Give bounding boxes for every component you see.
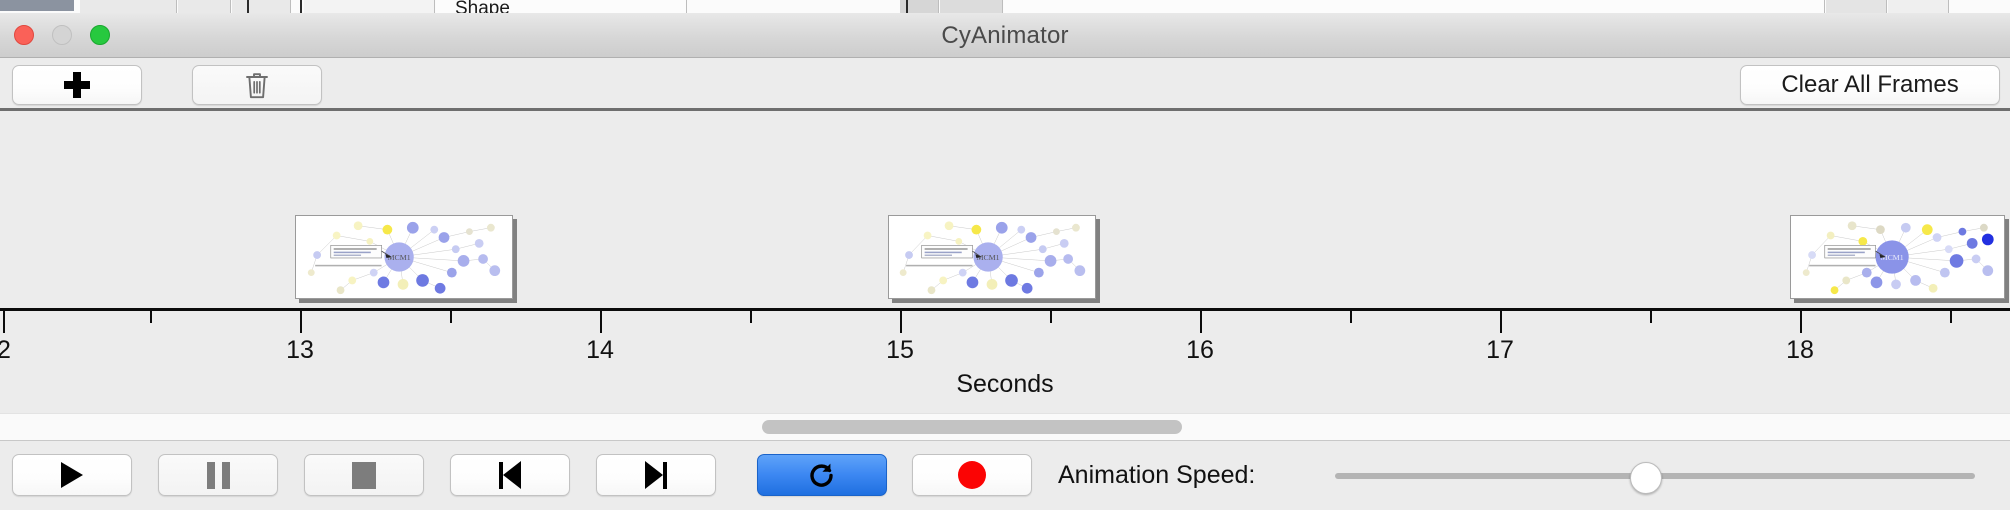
background-window-strip: Shape xyxy=(0,0,2010,14)
window-titlebar: CyAnimator xyxy=(0,13,2010,58)
timeline-ruler[interactable]: 2 13 14 15 16 17 18 Seconds xyxy=(0,308,2010,413)
timeline-frame[interactable]: MCM1 xyxy=(295,215,513,299)
play-button[interactable] xyxy=(12,454,132,496)
plus-icon xyxy=(64,72,90,98)
playback-controls: Animation Speed: xyxy=(0,441,2010,510)
ruler-major-tick xyxy=(300,311,302,333)
ruler-tick-label: 2 xyxy=(0,336,11,365)
ruler-tick-label: 15 xyxy=(886,336,914,365)
frame-timeline[interactable]: MCM1 xyxy=(0,111,2010,308)
record-icon xyxy=(958,461,986,489)
ruler-minor-tick xyxy=(1650,311,1652,323)
timeline-scrollbar[interactable] xyxy=(0,413,2010,441)
animation-speed-slider-thumb[interactable] xyxy=(1630,462,1662,494)
ruler-minor-tick xyxy=(1350,311,1352,323)
axis-title: Seconds xyxy=(0,370,2010,399)
window-title: CyAnimator xyxy=(0,13,2010,58)
ruler-minor-tick xyxy=(750,311,752,323)
scrollbar-thumb[interactable] xyxy=(762,420,1182,434)
ruler-minor-tick xyxy=(1950,311,1952,323)
delete-frame-button[interactable] xyxy=(192,65,322,105)
ruler-major-tick xyxy=(1200,311,1202,333)
network-thumbnail: MCM1 xyxy=(889,216,1095,298)
svg-text:MCM1: MCM1 xyxy=(388,253,411,262)
skip-forward-icon xyxy=(645,461,667,489)
first-frame-button[interactable] xyxy=(450,454,570,496)
network-thumbnail: MCM1 xyxy=(296,216,512,298)
clear-all-frames-label: Clear All Frames xyxy=(1781,71,1958,99)
ruler-major-tick xyxy=(1800,311,1802,333)
timeline-frame[interactable]: MCM1 xyxy=(888,215,1096,299)
last-frame-button[interactable] xyxy=(596,454,716,496)
clear-all-frames-button[interactable]: Clear All Frames xyxy=(1740,65,2000,105)
record-button[interactable] xyxy=(912,454,1032,496)
svg-text:MCM1: MCM1 xyxy=(1881,253,1904,262)
cyanimator-window: Shape CyAnimator Clear All Frames xyxy=(0,0,2010,510)
background-window-titlebar xyxy=(0,0,74,11)
timeline-frame[interactable]: MCM1 xyxy=(1790,215,2005,299)
trash-icon xyxy=(245,71,269,99)
play-icon xyxy=(61,462,83,488)
skip-back-icon xyxy=(499,461,521,489)
stop-button[interactable] xyxy=(304,454,424,496)
ruler-tick-label: 13 xyxy=(286,336,314,365)
background-window-label: Shape xyxy=(455,0,510,14)
svg-text:MCM1: MCM1 xyxy=(977,253,1000,262)
ruler-minor-tick xyxy=(150,311,152,323)
ruler-tick-label: 17 xyxy=(1486,336,1514,365)
ruler-major-tick xyxy=(900,311,902,333)
ruler-tick-label: 16 xyxy=(1186,336,1214,365)
loop-button[interactable] xyxy=(757,454,887,496)
pause-icon xyxy=(207,462,230,489)
ruler-major-tick xyxy=(1500,311,1502,333)
add-frame-button[interactable] xyxy=(12,65,142,105)
ruler-tick-label: 14 xyxy=(586,336,614,365)
ruler-minor-tick xyxy=(450,311,452,323)
ruler-minor-tick xyxy=(1050,311,1052,323)
pause-button[interactable] xyxy=(158,454,278,496)
network-thumbnail: MCM1 xyxy=(1791,216,2004,298)
frame-toolbar: Clear All Frames xyxy=(0,58,2010,111)
loop-icon xyxy=(807,460,837,490)
animation-speed-label: Animation Speed: xyxy=(1058,454,1255,496)
ruler-major-tick xyxy=(3,311,5,333)
ruler-major-tick xyxy=(600,311,602,333)
stop-icon xyxy=(352,462,376,489)
ruler-tick-label: 18 xyxy=(1786,336,1814,365)
